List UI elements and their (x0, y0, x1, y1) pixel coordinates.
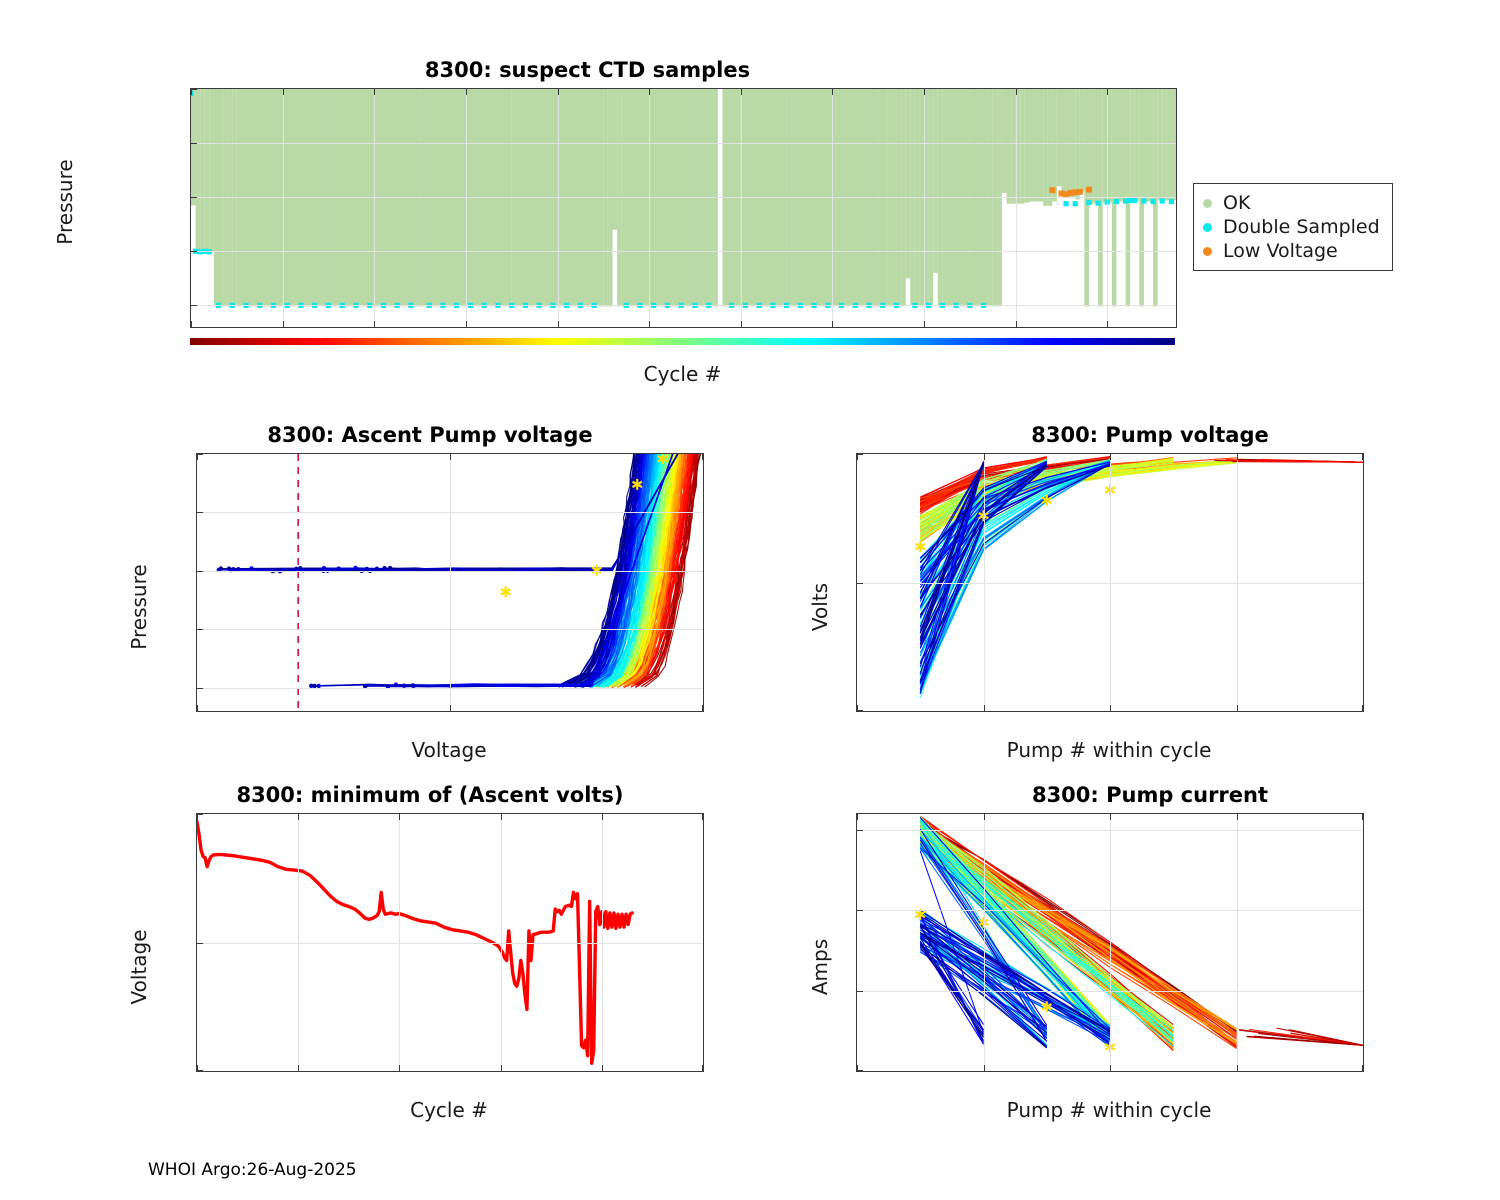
x-tickmark (501, 1065, 502, 1071)
colorbar-dot (559, 338, 564, 345)
ok-depth-bar (1002, 89, 1007, 193)
colorbar-dot (738, 338, 743, 345)
colorbar-dot (1022, 338, 1027, 345)
y-tickmark (197, 688, 203, 689)
gridline-vertical (984, 454, 985, 711)
double-sampled-marker (1114, 199, 1119, 204)
x-tickmark-top (1016, 89, 1017, 95)
colorbar-dot (454, 338, 459, 345)
double-sampled-marker (1150, 199, 1155, 204)
colorbar-dot (761, 338, 766, 345)
gridline-horizontal (191, 251, 1176, 252)
x-tickmark (649, 321, 650, 327)
colorbar-dot (903, 338, 908, 345)
x-tickmark (741, 321, 742, 327)
colorbar-dot (861, 338, 866, 345)
x-tickmark (984, 1065, 985, 1071)
gridline-horizontal (191, 305, 1176, 306)
legend-label-ok: OK (1223, 192, 1250, 214)
colorbar-dot (880, 338, 885, 345)
gridline-vertical (1237, 454, 1238, 711)
ok-depth-bar (612, 89, 617, 230)
colorbar-dot (467, 338, 472, 345)
colorbar-dot (884, 338, 889, 345)
colorbar-dot (788, 338, 793, 345)
colorbar-dot (1109, 338, 1114, 345)
y-tickmark (191, 251, 197, 252)
colorbar-dot (889, 338, 894, 345)
colorbar-dot (637, 338, 642, 345)
y-tickmark (857, 583, 863, 584)
panel-title-minimum-ascent-volts: 8300: minimum of (Ascent volts) (150, 783, 710, 807)
colorbar-dot (660, 338, 665, 345)
ok-depth-bar (1043, 89, 1048, 206)
colorbar-dot (426, 338, 431, 345)
x-tickmark (1110, 1065, 1111, 1071)
colorbar-dot (774, 338, 779, 345)
x-tickmark (197, 705, 198, 711)
x-tickmark (1110, 705, 1111, 711)
colorbar-dot (971, 338, 976, 345)
x-tickmark (558, 321, 559, 327)
colorbar-dot (481, 338, 486, 345)
colorbar-dot (1141, 338, 1146, 345)
colorbar-dot (197, 338, 202, 345)
y-tickmark (191, 143, 197, 144)
colorbar-dot (811, 338, 816, 345)
axis-label-pressure-top: Pressure (53, 132, 77, 272)
colorbar-dot (939, 338, 944, 345)
colorbar-dot (958, 338, 963, 345)
colorbar-dot (582, 338, 587, 345)
colorbar-dot (1146, 338, 1151, 345)
double-sampled-marker (1073, 201, 1078, 206)
colorbar-dot (390, 338, 395, 345)
double-sampled-marker (1123, 198, 1128, 203)
panel-title-ascent-pump-voltage: 8300: Ascent Pump voltage (150, 423, 710, 447)
x-tickmark-top (466, 89, 467, 95)
colorbar-dot (403, 338, 408, 345)
y-tickmark (857, 910, 863, 911)
colorbar-dot (1136, 338, 1141, 345)
x-tickmark (374, 321, 375, 327)
legend-swatch-double-sampled (1203, 223, 1212, 232)
ok-depth-bar (1075, 89, 1080, 199)
x-tickmark (924, 321, 925, 327)
colorbar-dot (1045, 338, 1050, 345)
x-tickmark-top (1237, 454, 1238, 460)
colorbar-dot (857, 338, 862, 345)
colorbar-dot (632, 338, 637, 345)
colorbar-dot (358, 338, 363, 345)
colorbar-dot (1104, 338, 1109, 345)
colorbar-dot (820, 338, 825, 345)
colorbar-dot (1017, 338, 1022, 345)
colorbar-dot (1068, 338, 1073, 345)
colorbar-dot (458, 338, 463, 345)
colorbar-dot (1077, 338, 1082, 345)
colorbar-dot (875, 338, 880, 345)
plot-canvas (191, 89, 1176, 327)
colorbar-dot (1168, 338, 1173, 345)
ok-depth-bar (191, 89, 196, 205)
colorbar-dot (238, 338, 243, 345)
gridline-vertical (298, 814, 299, 1071)
legend-label-double-sampled: Double Sampled (1223, 216, 1380, 238)
colorbar-dot (907, 338, 912, 345)
ok-depth-bar (209, 89, 214, 251)
colorbar-dot (555, 338, 560, 345)
colorbar-dot (898, 338, 903, 345)
legend-swatch-ok (1203, 199, 1212, 208)
x-tickmark-top (832, 89, 833, 95)
colorbar-dot (770, 338, 775, 345)
colorbar-dot (1127, 338, 1132, 345)
colorbar-dot (866, 338, 871, 345)
ok-depth-bar (1167, 89, 1172, 200)
colorbar-dot (449, 338, 454, 345)
y-tickmark (197, 571, 203, 572)
gridline-vertical (1237, 814, 1238, 1071)
colorbar-dot (1118, 338, 1123, 345)
colorbar-dot (376, 338, 381, 345)
ok-depth-bar (200, 89, 205, 251)
panel-suspect-ctd-samples: 8300: suspect CTD samples Pressure 05001… (0, 0, 1400, 400)
colorbar-dot (953, 338, 958, 345)
colorbar-dot (609, 338, 614, 345)
colorbar-dot (591, 338, 596, 345)
ok-depth-bar (1121, 89, 1126, 202)
x-tickmark (702, 705, 703, 711)
legend-item-ok: OK (1203, 191, 1380, 215)
colorbar-dot (412, 338, 417, 345)
colorbar-dot (394, 338, 399, 345)
colorbar-dot (967, 338, 972, 345)
colorbar-dot (779, 338, 784, 345)
colorbar-dot (1081, 338, 1086, 345)
x-tickmark-top (702, 454, 703, 460)
ok-depth-bar (1162, 89, 1167, 200)
colorbar-dot (747, 338, 752, 345)
x-tickmark (984, 705, 985, 711)
colorbar-dot (752, 338, 757, 345)
colorbar-dot (316, 338, 321, 345)
x-tickmark (197, 1065, 198, 1071)
colorbar-dot (380, 338, 385, 345)
colorbar-dot (921, 338, 926, 345)
x-tickmark-top (649, 89, 650, 95)
colorbar-dot (408, 338, 413, 345)
colorbar-dot (252, 338, 257, 345)
colorbar-dot (655, 338, 660, 345)
colorbar-dot (669, 338, 674, 345)
ok-depth-bar (1006, 89, 1011, 204)
x-tickmark-top (924, 89, 925, 95)
colorbar-dot (371, 338, 376, 345)
panel-title-suspect-ctd: 8300: suspect CTD samples (0, 58, 1175, 82)
panel-minimum-ascent-volts: 8300: minimum of (Ascent volts) Voltage … (0, 775, 720, 1125)
colorbar-dot (802, 338, 807, 345)
colorbar-dot (550, 338, 555, 345)
colorbar-dot (912, 338, 917, 345)
x-tickmark (1016, 321, 1017, 327)
ok-depth-bar (1144, 89, 1149, 202)
colorbar-dot (596, 338, 601, 345)
colorbar-dot (490, 338, 495, 345)
ok-depth-bar (1149, 89, 1154, 202)
double-sampled-marker (1063, 201, 1068, 206)
colorbar-dot (1091, 338, 1096, 345)
colorbar-dot (916, 338, 921, 345)
colorbar-dot (307, 338, 312, 345)
legend-suspect-ctd: OK Double Sampled Low Voltage (1193, 183, 1393, 271)
colorbar-dot (225, 338, 230, 345)
double-sampled-marker (1160, 198, 1165, 203)
ok-depth-bar (1116, 89, 1121, 202)
colorbar-dot (1008, 338, 1013, 345)
colorbar-dot (275, 338, 280, 345)
colorbar-dot (541, 338, 546, 345)
x-tickmark (450, 705, 451, 711)
x-tickmark (298, 1065, 299, 1071)
colorbar-dot (312, 338, 317, 345)
colorbar-dot (797, 338, 802, 345)
colorbar-dot (1095, 338, 1100, 345)
gridline-vertical (649, 89, 650, 327)
colorbar-dot (1040, 338, 1045, 345)
ok-depth-bar (1158, 89, 1163, 200)
x-tickmark (832, 321, 833, 327)
colorbar-dot (229, 338, 234, 345)
ok-depth-bar (205, 89, 210, 251)
colorbar-dot (1026, 338, 1031, 345)
axis-label-voltage-ascent: Voltage (196, 738, 702, 762)
x-tickmark (1362, 1065, 1363, 1071)
colorbar-dot (981, 338, 986, 345)
x-tickmark-top (602, 814, 603, 820)
colorbar-dot (729, 338, 734, 345)
colorbar-dot (362, 338, 367, 345)
colorbar-dot (348, 338, 353, 345)
colorbar-dot (435, 338, 440, 345)
colorbar-dot (243, 338, 248, 345)
x-tickmark-top (1362, 814, 1363, 820)
x-tickmark (702, 1065, 703, 1071)
colorbar-dot (495, 338, 500, 345)
colorbar-dot (710, 338, 715, 345)
colorbar-dot (926, 338, 931, 345)
colorbar-dot (724, 338, 729, 345)
colorbar-dot (646, 338, 651, 345)
x-tickmark-top (984, 814, 985, 820)
colorbar-dot (257, 338, 262, 345)
gridline-vertical (450, 454, 451, 711)
x-tickmark-top (1110, 814, 1111, 820)
colorbar-dot (266, 338, 271, 345)
x-tickmark-top (1362, 454, 1363, 460)
colorbar-dot (1155, 338, 1160, 345)
colorbar-dot (719, 338, 724, 345)
colorbar-dot (852, 338, 857, 345)
colorbar-dot (834, 338, 839, 345)
colorbar-dot (1132, 338, 1137, 345)
colorbar-dot (339, 338, 344, 345)
colorbar-dot (1173, 338, 1175, 345)
colorbar-dot (353, 338, 358, 345)
colorbar-dot (248, 338, 253, 345)
axis-label-pump-num-current: Pump # within cycle (856, 1098, 1362, 1122)
colorbar-dot (829, 338, 834, 345)
y-tickmark (197, 512, 203, 513)
colorbar-dot (577, 338, 582, 345)
legend-label-low-voltage: Low Voltage (1223, 240, 1338, 262)
y-tickmark (191, 305, 197, 306)
x-tickmark (1237, 705, 1238, 711)
colorbar-dot (190, 338, 193, 345)
colorbar-dot (994, 338, 999, 345)
x-tickmark-top (298, 814, 299, 820)
colorbar-dot (664, 338, 669, 345)
colorbar-dot (1036, 338, 1041, 345)
x-tickmark (857, 1065, 858, 1071)
cycle-colorbar (190, 337, 1175, 346)
colorbar-dot (573, 338, 578, 345)
gridline-vertical (741, 89, 742, 327)
colorbar-dot (1159, 338, 1164, 345)
colorbar-dot (472, 338, 477, 345)
colorbar-dot (1058, 338, 1063, 345)
colorbar-dot (839, 338, 844, 345)
colorbar-dot (756, 338, 761, 345)
colorbar-dot (742, 338, 747, 345)
min-marker-star (915, 541, 925, 552)
colorbar-dot (1113, 338, 1118, 345)
ok-depth-bar (1130, 89, 1135, 202)
ok-depth-bar (1080, 89, 1085, 192)
colorbar-dot (367, 338, 372, 345)
colorbar-dot (298, 338, 303, 345)
low-voltage-marker (1077, 189, 1083, 195)
panel-pump-current: 8300: Pump current Amps 012302468 Pump #… (760, 775, 1460, 1125)
colorbar-dot (1054, 338, 1059, 345)
gridline-vertical (501, 814, 502, 1071)
gridline-horizontal (191, 197, 1176, 198)
ok-depth-bar (906, 89, 911, 278)
x-tickmark-top (702, 814, 703, 820)
colorbar-dot (1150, 338, 1155, 345)
colorbar-dot (674, 338, 679, 345)
x-tickmark-top (741, 89, 742, 95)
ok-depth-bar (1039, 89, 1044, 202)
ok-depth-bar (1094, 89, 1099, 204)
x-tickmark-top (450, 454, 451, 460)
axis-label-voltage-min: Voltage (127, 897, 151, 1037)
x-tickmark-top (984, 454, 985, 460)
plot-area-pump-voltage: 5101502468 (856, 453, 1364, 712)
colorbar-dot (325, 338, 330, 345)
colorbar-dot (651, 338, 656, 345)
colorbar-dot (431, 338, 436, 345)
colorbar-dot (1031, 338, 1036, 345)
colorbar-dot (628, 338, 633, 345)
x-tickmark-top (558, 89, 559, 95)
colorbar-dot (1164, 338, 1169, 345)
colorbar-dot (509, 338, 514, 345)
panel-ascent-pump-voltage: 8300: Ascent Pump voltage Pressure 05001… (0, 415, 720, 760)
colorbar-dot (385, 338, 390, 345)
colorbar-dot (193, 338, 198, 345)
x-tickmark-top (501, 814, 502, 820)
colorbar-dot (1049, 338, 1054, 345)
colorbar-dot (518, 338, 523, 345)
x-tickmark-top (197, 814, 198, 820)
y-tickmark (857, 991, 863, 992)
colorbar-dot (417, 338, 422, 345)
colorbar-dot (706, 338, 711, 345)
x-tickmark-top (1107, 89, 1108, 95)
axis-label-pressure-ascent: Pressure (127, 537, 151, 677)
colorbar-dot (944, 338, 949, 345)
legend-item-low-voltage: Low Voltage (1203, 239, 1380, 263)
gridline-vertical (374, 89, 375, 327)
ok-depth-bar (1034, 89, 1039, 202)
colorbar-dot (522, 338, 527, 345)
colorbar-dot (206, 338, 211, 345)
colorbar-dot (1100, 338, 1105, 345)
colorbar-dot (504, 338, 509, 345)
colorbar-dot (692, 338, 697, 345)
gridline-vertical (984, 814, 985, 1071)
panel-title-pump-voltage: 8300: Pump voltage (870, 423, 1430, 447)
x-tickmark (283, 321, 284, 327)
colorbar-dot (1003, 338, 1008, 345)
colorbar-dot (587, 338, 592, 345)
plot-area-pump-current: 012302468 (856, 813, 1364, 1072)
x-tickmark-top (283, 89, 284, 95)
colorbar-dot (825, 338, 830, 345)
x-tickmark (191, 321, 192, 327)
ok-depth-bar (1025, 89, 1030, 203)
colorbar-dot (600, 338, 605, 345)
colorbar-dot (687, 338, 692, 345)
colorbar-dot (793, 338, 798, 345)
axis-label-cycle-top: Cycle # (190, 362, 1175, 386)
colorbar-dot (440, 338, 445, 345)
colorbar-dot (1086, 338, 1091, 345)
double-sampled-marker (1128, 198, 1133, 203)
x-tickmark-top (1237, 814, 1238, 820)
colorbar-dot (202, 338, 207, 345)
colorbar-dot (930, 338, 935, 345)
colorbar-dot (765, 338, 770, 345)
colorbar-dot (445, 338, 450, 345)
colorbar-dot (280, 338, 285, 345)
x-tickmark (602, 1065, 603, 1071)
double-sampled-marker (1141, 198, 1146, 203)
colorbar-dot (894, 338, 899, 345)
x-tickmark (1237, 1065, 1238, 1071)
colorbar-dot (220, 338, 225, 345)
colorbar-dot (303, 338, 308, 345)
footer-credit: WHOI Argo:26-Aug-2025 (148, 1160, 357, 1180)
x-tickmark-top (191, 89, 192, 95)
ok-depth-bar (1171, 89, 1176, 200)
y-tickmark (857, 830, 863, 831)
plot-area-ascent-pump-voltage: 050010001500200051015 (196, 453, 704, 712)
gridline-horizontal (197, 943, 703, 944)
colorbar-dot (1013, 338, 1018, 345)
colorbar-dot (536, 338, 541, 345)
